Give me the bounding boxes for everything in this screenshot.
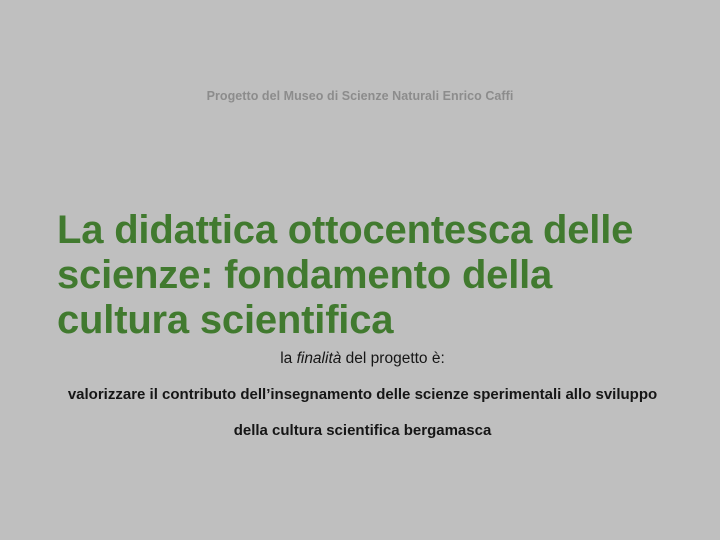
subtitle-lead-prefix: la (280, 350, 296, 367)
page-title: La didattica ottocentesca delle scienze:… (57, 208, 657, 343)
subtitle-emphasis-line-one: valorizzare il contributo dell’insegname… (30, 384, 695, 405)
subtitle-lead-line: la finalità del progetto è: (30, 348, 695, 384)
subtitle-lead-suffix: del progetto è: (341, 350, 444, 367)
presentation-slide: Progetto del Museo di Scienze Naturali E… (0, 0, 720, 540)
subtitle-lead-italic-word: finalità (297, 350, 342, 367)
slide-subtitle-block: la finalità del progetto è: valorizzare … (30, 348, 695, 441)
subtitle-emphasis-line-two: della cultura scientifica bergamasca (30, 405, 695, 441)
slide-title-block: La didattica ottocentesca delle scienze:… (57, 208, 657, 343)
slide-header-subtitle: Progetto del Museo di Scienze Naturali E… (0, 89, 720, 103)
